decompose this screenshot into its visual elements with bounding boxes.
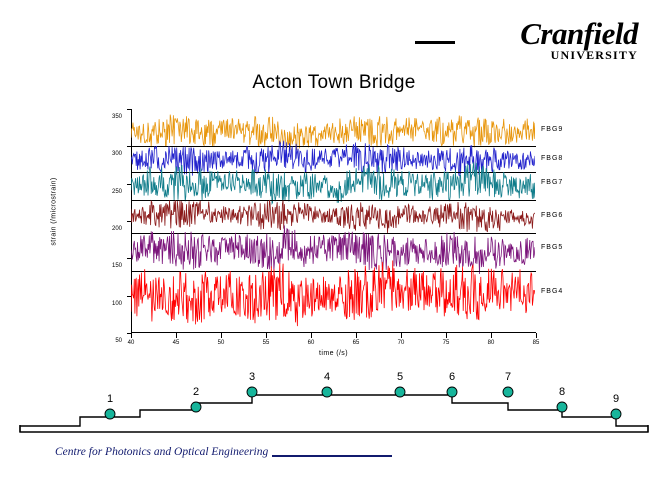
bridge-sensor-marker [105, 409, 115, 419]
bridge-sensor-marker [611, 409, 621, 419]
legend-label-fbg9: FBG9 [541, 126, 563, 133]
footer-rule [272, 455, 392, 457]
bridge-sensor-number-2: 2 [193, 386, 199, 398]
brand-subtitle: UNIVERSITY [551, 49, 638, 61]
bridge-sensor-marker [447, 387, 457, 397]
y-axis-tick-label: 200 [0, 217, 122, 235]
x-axis-tick-mark [536, 333, 537, 338]
bridge-diagram: 123456789 [0, 362, 668, 442]
y-axis-tick-label: 350 [0, 105, 122, 123]
bridge-sensor-number-8: 8 [559, 386, 565, 398]
y-axis-ticks: 35030025020015010050 [0, 100, 125, 342]
bridge-sensor-number-3: 3 [249, 371, 255, 383]
legend-label-fbg5: FBG5 [541, 244, 563, 251]
bridge-sensor-marker [191, 402, 201, 412]
bridge-sensor-marker [247, 387, 257, 397]
bridge-sensor-marker [395, 387, 405, 397]
strain-chart: strain (/microstrain) 350300250200150100… [0, 100, 668, 362]
page-title: Acton Town Bridge [0, 72, 668, 94]
bridge-sensor-number-9: 9 [613, 393, 619, 405]
bridge-sensor-marker [503, 387, 513, 397]
bridge-sensor-number-7: 7 [505, 371, 511, 383]
brand-header: Cranfield UNIVERSITY [0, 8, 668, 60]
y-axis-tick-label: 250 [0, 180, 122, 198]
footer-text: Centre for Photonics and Optical Enginee… [55, 446, 268, 458]
legend-label-fbg7: FBG7 [541, 179, 563, 186]
x-axis-label: time (/s) [131, 350, 536, 357]
bridge-sensor-number-5: 5 [397, 371, 403, 383]
legend-label-fbg6: FBG6 [541, 212, 563, 219]
bridge-sensor-marker [557, 402, 567, 412]
bridge-outline [0, 362, 668, 442]
legend-label-fbg4: FBG4 [541, 288, 563, 295]
y-axis-tick-label: 300 [0, 142, 122, 160]
y-axis-tick-label: 100 [0, 292, 122, 310]
bridge-sensor-number-1: 1 [107, 393, 113, 405]
footer: Centre for Photonics and Optical Enginee… [0, 446, 668, 472]
bridge-sensor-number-6: 6 [449, 371, 455, 383]
y-axis-tick-label: 50 [0, 329, 122, 347]
series-trace-fbg4 [131, 100, 535, 345]
brand-name: Cranfield [520, 18, 638, 49]
bridge-sensor-marker [322, 387, 332, 397]
brand-rule [415, 41, 455, 44]
legend-label-fbg8: FBG8 [541, 155, 563, 162]
bridge-sensor-number-4: 4 [324, 371, 330, 383]
y-axis-tick-label: 150 [0, 254, 122, 272]
